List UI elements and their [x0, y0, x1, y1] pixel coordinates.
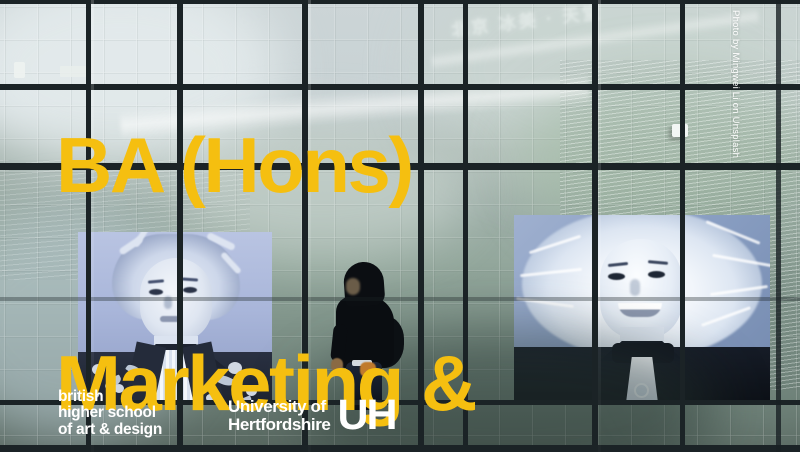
- portrait-eye: [648, 271, 665, 278]
- portrait-eye: [608, 273, 625, 280]
- bhsad-line-3: of art & design: [58, 422, 162, 438]
- photo-credit: Photo by Mingwei Li on Unsplash: [730, 10, 741, 158]
- bhsad-line-1: british: [58, 389, 162, 405]
- page-title: BA (Hons) Marketing & Advertising: [56, 0, 475, 452]
- course-promo-banner: 北京 冰美 · 天堂: [0, 0, 800, 452]
- uh-line-1: University of: [228, 398, 331, 415]
- facade-fixture-icon: [672, 124, 688, 137]
- portrait-face: [600, 239, 682, 339]
- logo-british-higher-school-of-art-and-design: british higher school of art & design: [58, 389, 162, 438]
- logo-university-of-hertfordshire: University of Hertfordshire UH: [228, 398, 396, 433]
- portrait-nose: [630, 279, 640, 296]
- uh-line-2: Hertfordshire: [228, 416, 331, 433]
- uh-monogram: UH: [338, 398, 396, 433]
- facade-fixture-icon: [14, 62, 25, 78]
- bhsad-line-2: higher school: [58, 405, 162, 421]
- headline-line-1: BA (Hons): [56, 129, 475, 202]
- uh-wordmark: University of Hertfordshire: [228, 398, 331, 433]
